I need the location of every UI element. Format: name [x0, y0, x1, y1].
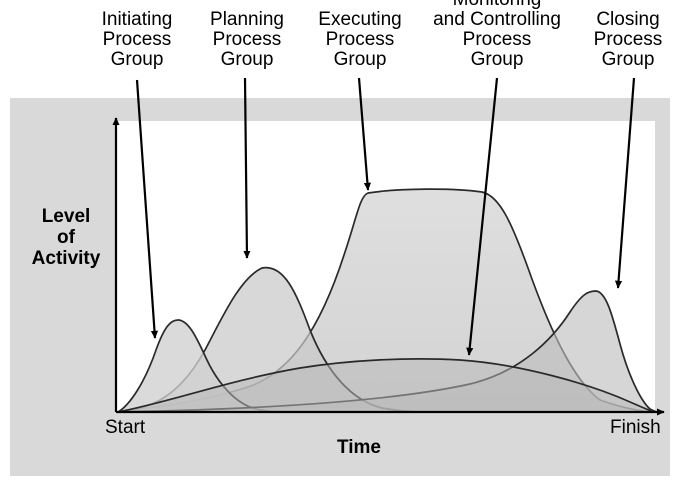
callout-arrow-initiating	[137, 80, 155, 338]
callout-arrow-closing	[618, 78, 634, 288]
chart-vector-overlay	[0, 0, 680, 486]
callout-arrow-executing	[359, 78, 368, 190]
callout-arrow-planning	[245, 78, 247, 258]
figure-root: Level of Activity Initiating Process Gro…	[0, 0, 680, 486]
